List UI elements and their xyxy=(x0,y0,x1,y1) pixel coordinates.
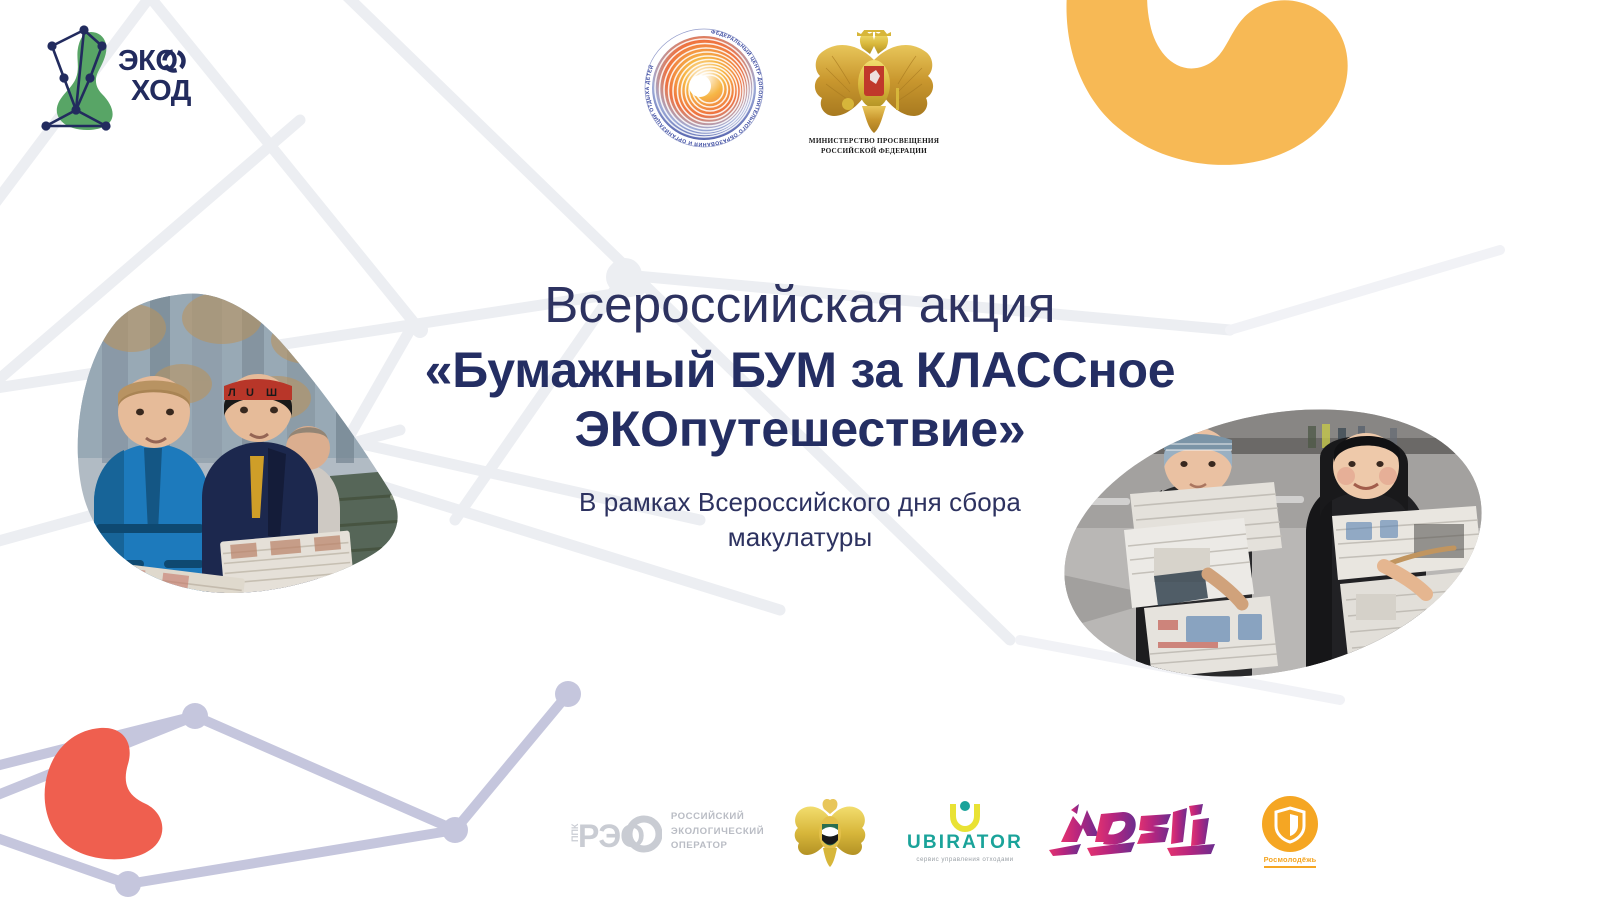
page-title-main: «Бумажный БУМ за КЛАССное ЭКОпутешествие… xyxy=(300,341,1300,459)
logo-text-hod: ХОД xyxy=(131,75,192,107)
reo-line-2: ЭКОЛОГИЧЕСКИЙ xyxy=(671,825,764,839)
reo-line-3: ОПЕРАТОР xyxy=(671,839,764,853)
double-headed-eagle-icon xyxy=(812,30,936,135)
page-subtitle-line2: макулатуры xyxy=(300,520,1300,555)
reo-mark-icon: ППК РЭО xyxy=(566,809,662,855)
page-subtitle-line1: В рамках Всероссийского дня сбора xyxy=(300,485,1300,520)
graffiti-logo[interactable] xyxy=(1040,778,1230,886)
rosprirodnadzor-logo[interactable] xyxy=(770,778,890,886)
page-subtitle: В рамках Всероссийского дня сбора макула… xyxy=(300,485,1300,556)
page-title-line1: Всероссийская акция xyxy=(300,276,1300,333)
ministry-line-1: МИНИСТЕРСТВО ПРОСВЕЩЕНИЯ xyxy=(809,137,939,147)
logo-text-eko: ЭКО xyxy=(118,45,177,77)
ubirator-logo[interactable]: UBIRATOR сервис управления отходами xyxy=(890,778,1040,886)
rosmolodezh-title: Росмолодёжь xyxy=(1264,856,1317,867)
page-title-main-line1: «Бумажный БУМ за КЛАССное xyxy=(300,341,1300,400)
reo-logo[interactable]: ППК РЭО РОССИЙСКИЙ ЭКОЛОГИЧЕСКИЙ ОПЕРАТО… xyxy=(560,778,770,886)
sponsor-logo-strip: ППК РЭО РОССИЙСКИЙ ЭКОЛОГИЧЕСКИЙ ОПЕРАТО… xyxy=(560,778,1390,886)
reo-line-1: РОССИЙСКИЙ xyxy=(671,810,764,824)
rosmolodezh-shield-icon xyxy=(1262,796,1318,852)
top-partner-logos: ФЕДЕРАЛЬНЫЙ ЦЕНТР ДОПОЛНИТЕЛЬНОГО ОБРАЗО… xyxy=(640,24,970,164)
yellow-crescent-shape xyxy=(1052,0,1382,184)
coral-blob-shape xyxy=(42,726,182,860)
page-title-main-line2: ЭКОпутешествие» xyxy=(300,400,1300,459)
ministry-of-education-logo[interactable]: МИНИСТЕРСТВО ПРОСВЕЩЕНИЯ РОССИЙСКОЙ ФЕДЕ… xyxy=(794,24,954,156)
ministry-line-2: РОССИЙСКОЙ ФЕДЕРАЦИИ xyxy=(809,147,939,157)
rosmolodezh-logo[interactable]: Росмолодёжь xyxy=(1230,778,1350,886)
ubirator-title: UBIRATOR xyxy=(907,833,1023,852)
eagle-emblem-icon xyxy=(793,796,867,868)
ekohod-logo[interactable]: ЭКО ХОД xyxy=(28,18,208,138)
graffiti-wordmark-icon xyxy=(1047,802,1223,862)
reo-fullname: РОССИЙСКИЙ ЭКОЛОГИЧЕСКИЙ ОПЕРАТОР xyxy=(671,810,764,853)
ubirator-tagline: сервис управления отходами xyxy=(916,857,1013,863)
network-nodes-lavender xyxy=(115,681,581,897)
ministry-name: МИНИСТЕРСТВО ПРОСВЕЩЕНИЯ РОССИЙСКОЙ ФЕДЕ… xyxy=(809,137,939,156)
fcdo-spiral-logo[interactable]: ФЕДЕРАЛЬНЫЙ ЦЕНТР ДОПОЛНИТЕЛЬНОГО ОБРАЗО… xyxy=(640,24,768,152)
ubirator-mark-icon xyxy=(947,800,983,832)
headline-block: Всероссийская акция «Бумажный БУМ за КЛА… xyxy=(300,276,1300,556)
